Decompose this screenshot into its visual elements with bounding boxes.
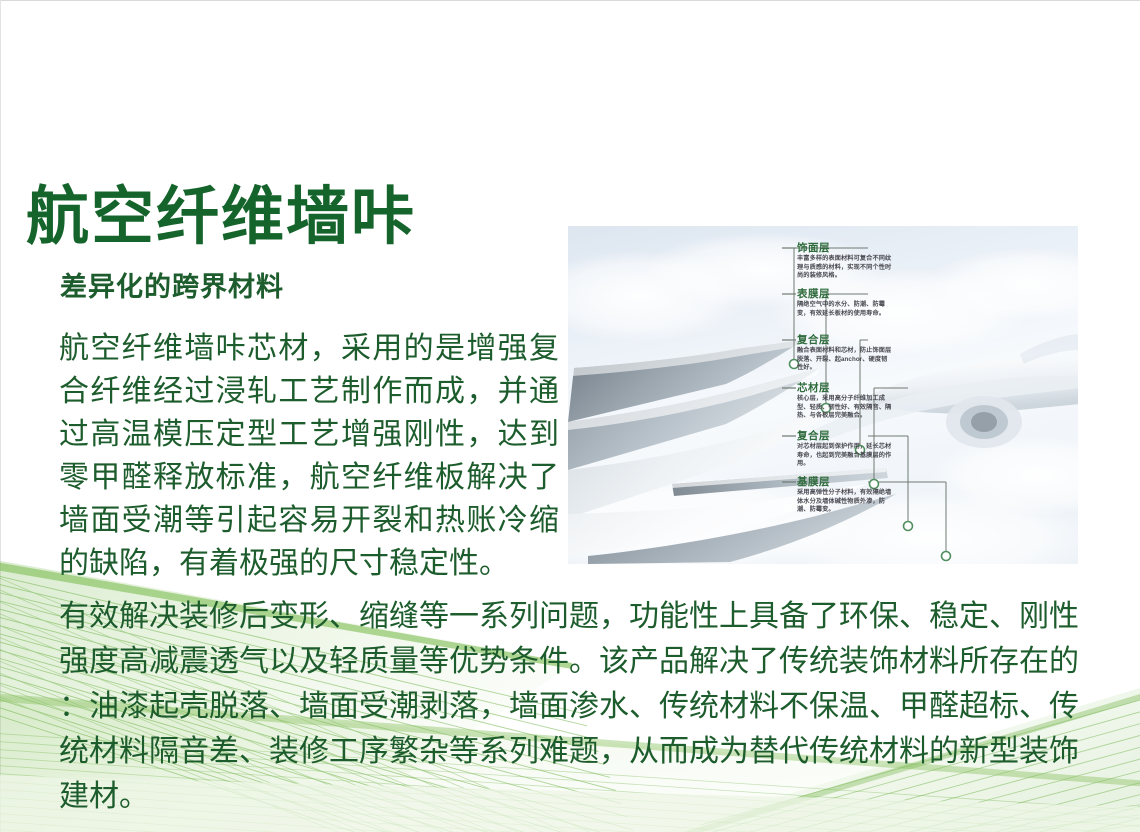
callout-body: 丰富多样的表面材料可复合不同纹理与质感的材料，实现不同个性时尚的装修风格。 <box>797 255 893 281</box>
poster-canvas: 航空纤维墙咔 差异化的跨界材料 航空纤维墙咔芯材，采用的是增强复合纤维经过浸轧工… <box>0 0 1140 832</box>
body-line: 强度高减震透气以及轻质量等优势条件。该产品解决了传统装饰材料所存在的 <box>59 639 1093 684</box>
callout-body: 隔绝空气中的水分、防潮、防霉变，有效延长板材的使用寿命。 <box>797 301 893 318</box>
callout-body: 融合表面材料和芯材，防止饰面层脱落、开裂、起anchor、硬度韧性好。 <box>797 347 893 373</box>
callout-2: 复合层 融合表面材料和芯材，防止饰面层脱落、开裂、起anchor、硬度韧性好。 <box>797 332 893 373</box>
callout-body: 核心层，采用高分子纤维加工成型、轻质、韧性好、有效隔音、隔热、与各板层完美融合。 <box>797 395 893 421</box>
callout-body: 对芯材层起到保护作用，延长芯材寿命，也起到完美融合基膜层的作用。 <box>797 443 893 469</box>
callout-5: 基膜层 采用高弹性分子材料，有效隔绝墙体水分及墙体碱性物质外渗，防潮、防霉变。 <box>797 474 893 515</box>
layer-structure-illustration: 饰面层 丰富多样的表面材料可复合不同纹理与质感的材料，实现不同个性时尚的装修风格… <box>568 226 1078 564</box>
callout-0: 饰面层 丰富多样的表面材料可复合不同纹理与质感的材料，实现不同个性时尚的装修风格… <box>797 240 893 281</box>
page-top-edge <box>0 0 1140 1</box>
body-line: 统材料隔音差、装修工序繁杂等系列难题，从而成为替代传统材料的新型装饰 <box>59 729 1093 774</box>
callout-title: 饰面层 <box>797 240 893 255</box>
title-block: 航空纤维墙咔 差异化的跨界材料 <box>26 186 556 304</box>
intro-paragraph: 航空纤维墙咔芯材，采用的是增强复合纤维经过浸轧工艺制作而成，并通过高温模压定型工… <box>59 327 559 585</box>
callout-1: 表膜层 隔绝空气中的水分、防潮、防霉变，有效延长板材的使用寿命。 <box>797 286 893 318</box>
callout-title: 复合层 <box>797 428 893 443</box>
body-line: 建材。 <box>59 774 1093 819</box>
page-subtitle: 差异化的跨界材料 <box>60 265 556 304</box>
body-line: 有效解决装修后变形、缩缝等一系列问题，功能性上具备了环保、稳定、刚性 <box>59 594 1093 639</box>
callout-3: 芯材层 核心层，采用高分子纤维加工成型、轻质、韧性好、有效隔音、隔热、与各板层完… <box>797 380 893 421</box>
callout-title: 表膜层 <box>797 286 893 301</box>
callout-title: 基膜层 <box>797 474 893 489</box>
callout-title: 芯材层 <box>797 380 893 395</box>
callout-4: 复合层 对芯材层起到保护作用，延长芯材寿命，也起到完美融合基膜层的作用。 <box>797 428 893 469</box>
body-paragraph: 有效解决装修后变形、缩缝等一系列问题，功能性上具备了环保、稳定、刚性 强度高减震… <box>59 594 1093 819</box>
body-line: ：油漆起壳脱落、墙面受潮剥落，墙面渗水、传统材料不保温、甲醛超标、传 <box>59 684 1093 729</box>
page-left-edge <box>0 0 1 832</box>
page-title: 航空纤维墙咔 <box>26 186 556 249</box>
callout-body: 采用高弹性分子材料，有效隔绝墙体水分及墙体碱性物质外渗，防潮、防霉变。 <box>797 489 893 515</box>
callout-title: 复合层 <box>797 332 893 347</box>
